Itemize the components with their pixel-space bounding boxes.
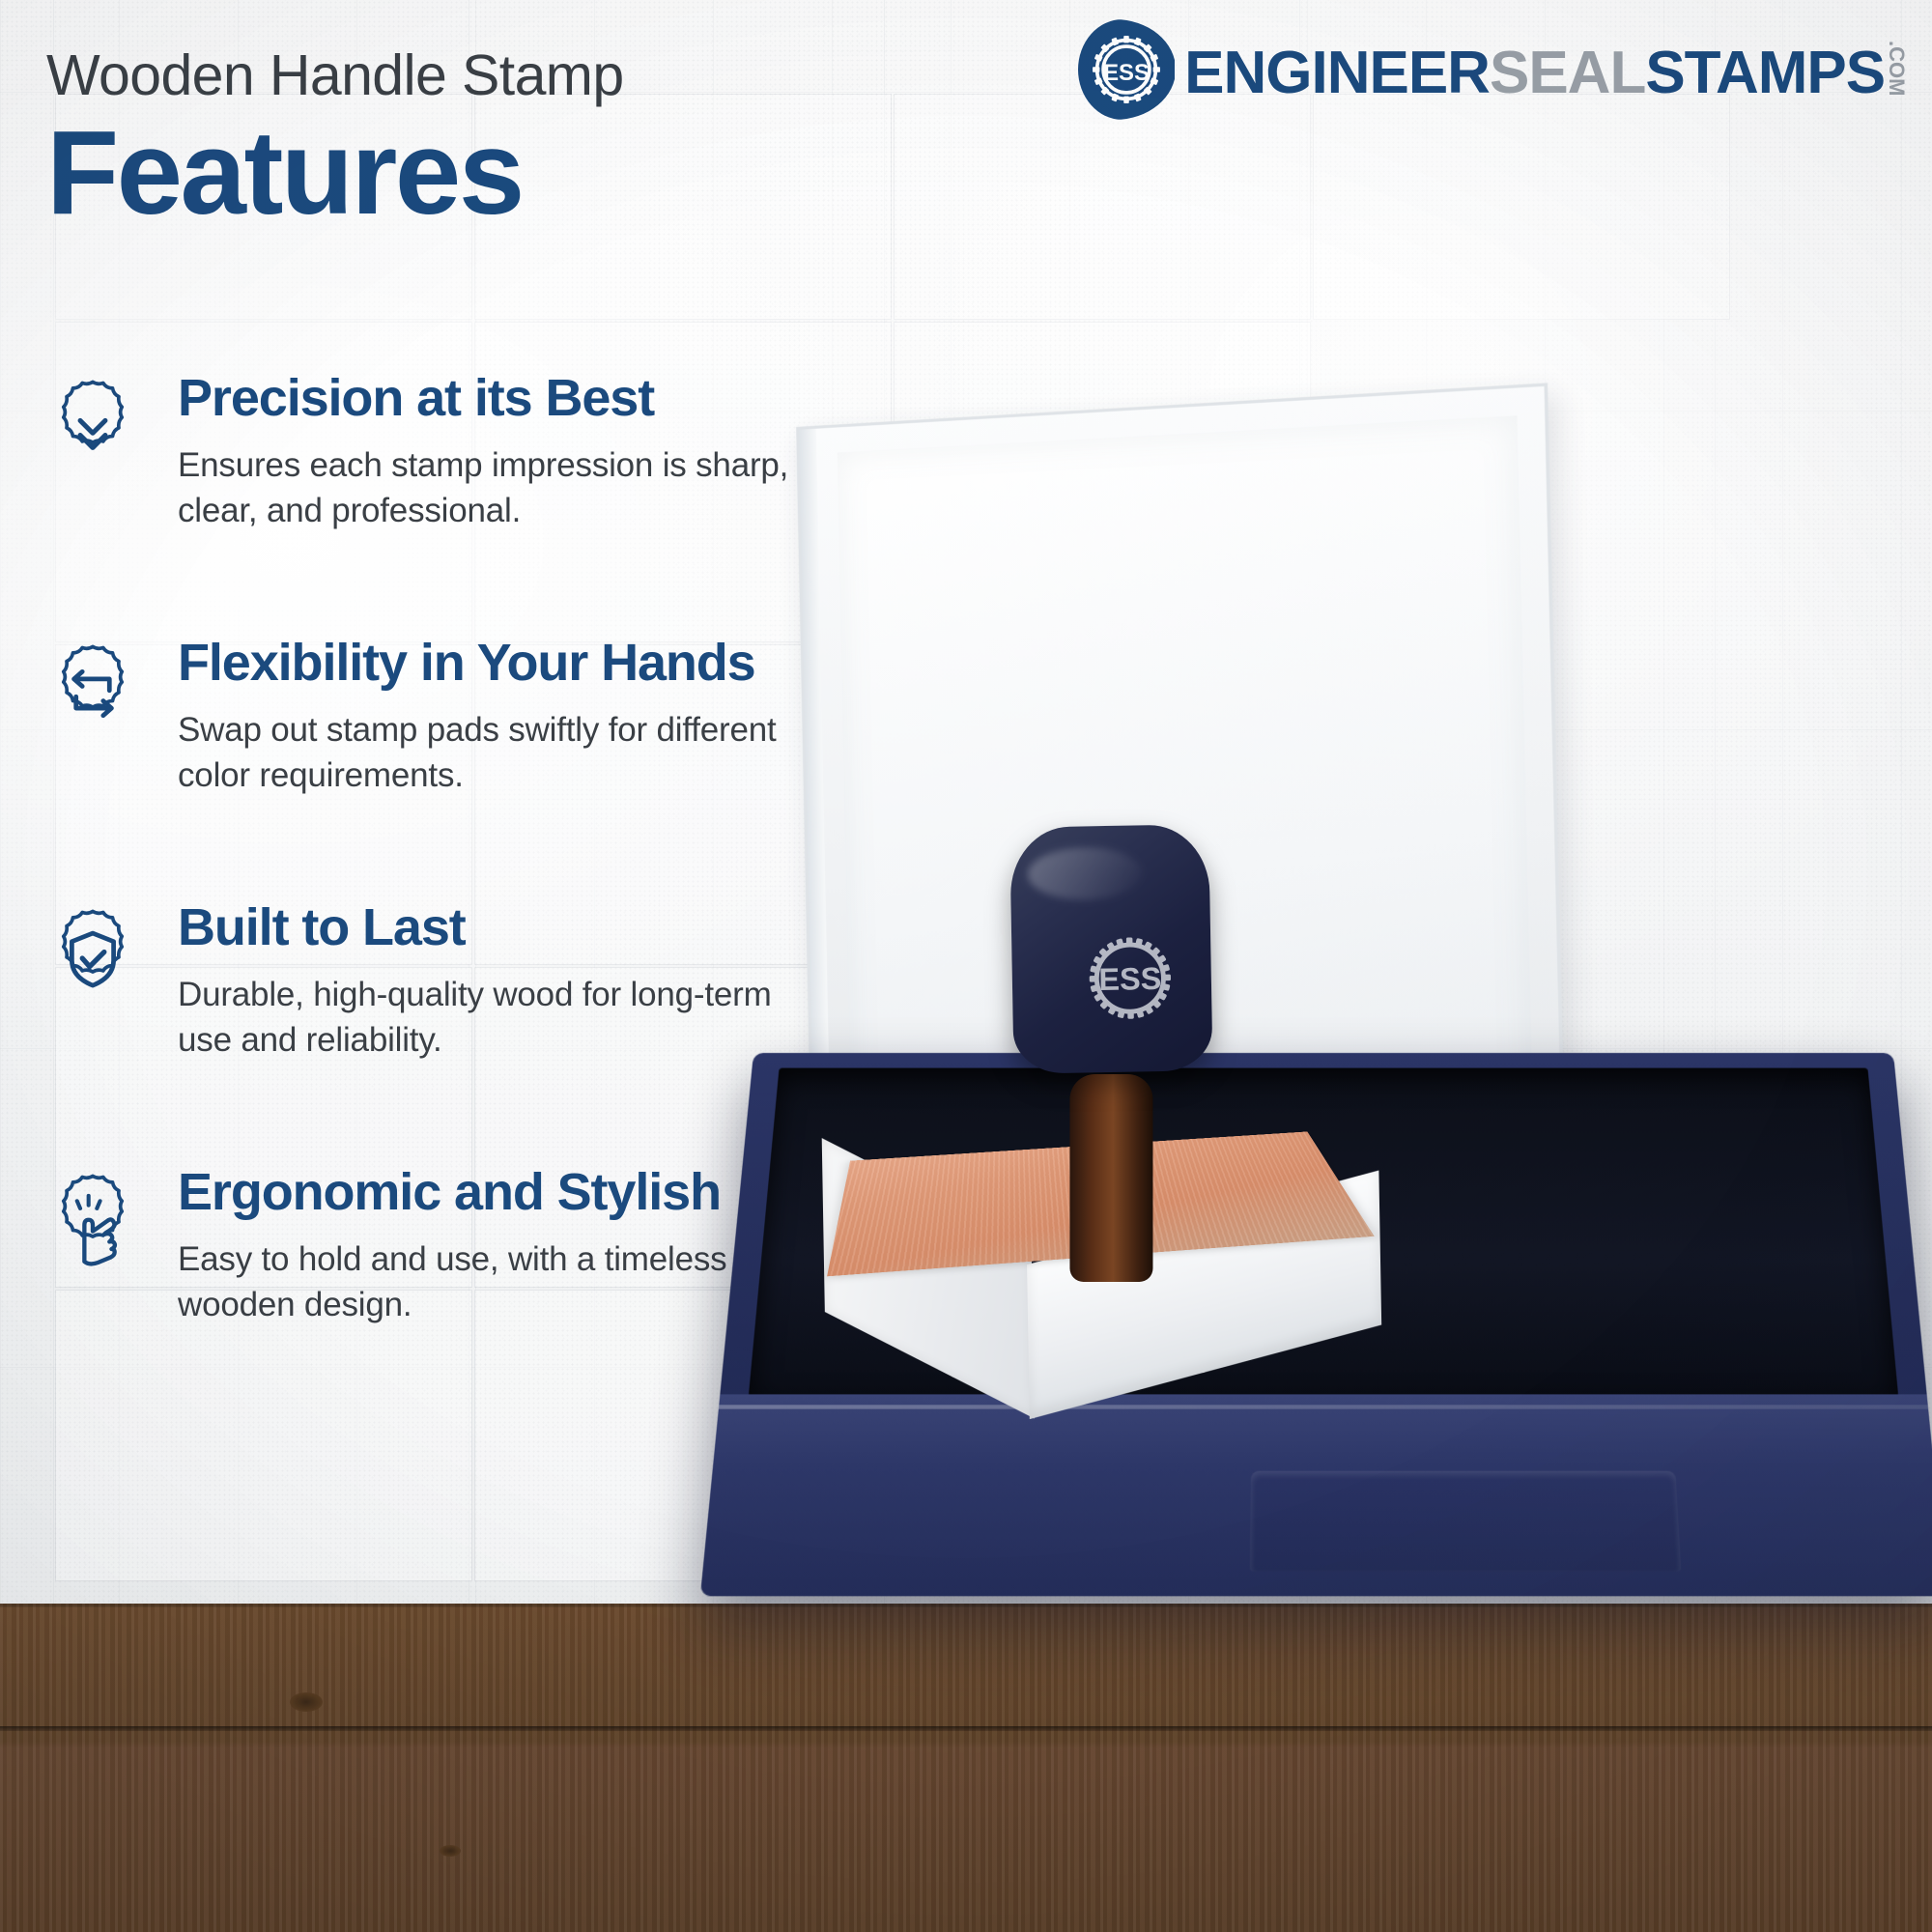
feature-body: Ensures each stamp impression is sharp, …: [178, 443, 815, 533]
logo-tld: .COM: [1887, 41, 1905, 96]
page-title: Features: [46, 114, 1012, 233]
ess-gear-badge-icon: ESS: [1078, 19, 1175, 120]
brand-logo[interactable]: ESS ENGINEER SEAL STAMPS .COM: [1078, 19, 1905, 120]
box-front-rim: [700, 1394, 1932, 1596]
wooden-handle-stamp: ESS: [808, 1000, 1413, 1416]
logo-word-seal: SEAL: [1490, 47, 1645, 99]
box-thumb-notch: [1250, 1471, 1682, 1572]
page-subtitle: Wooden Handle Stamp: [46, 46, 1012, 106]
brand-wordmark: ENGINEER SEAL STAMPS .COM: [1184, 41, 1905, 99]
handle-ess-gear-icon: ESS: [1077, 925, 1183, 1032]
logo-word-stamps: STAMPS: [1645, 47, 1885, 99]
stamp-handle-knob: ESS: [1009, 824, 1212, 1074]
stamp-handle-neck: [1069, 1074, 1152, 1282]
page-title-block: Wooden Handle Stamp Features: [46, 46, 1012, 233]
badge-chevrons-down-icon: [41, 377, 145, 481]
infographic-canvas: Wooden Handle Stamp Features: [0, 0, 1932, 1932]
ess-badge-label: ESS: [1103, 60, 1150, 86]
badge-shield-check-icon: [41, 906, 145, 1010]
badge-tap-hand-icon: [41, 1171, 145, 1275]
wooden-floor: [0, 1604, 1932, 1932]
feature-body: Swap out stamp pads swiftly for differen…: [178, 708, 815, 798]
product-photo: ESS: [734, 386, 1932, 1642]
feature-body: Durable, high-quality wood for long-term…: [178, 973, 815, 1063]
badge-swap-arrows-icon: [41, 641, 145, 746]
feature-body: Easy to hold and use, with a timeless wo…: [178, 1237, 815, 1327]
handle-ess-label: ESS: [1098, 961, 1161, 997]
logo-word-engineer: ENGINEER: [1184, 47, 1490, 99]
